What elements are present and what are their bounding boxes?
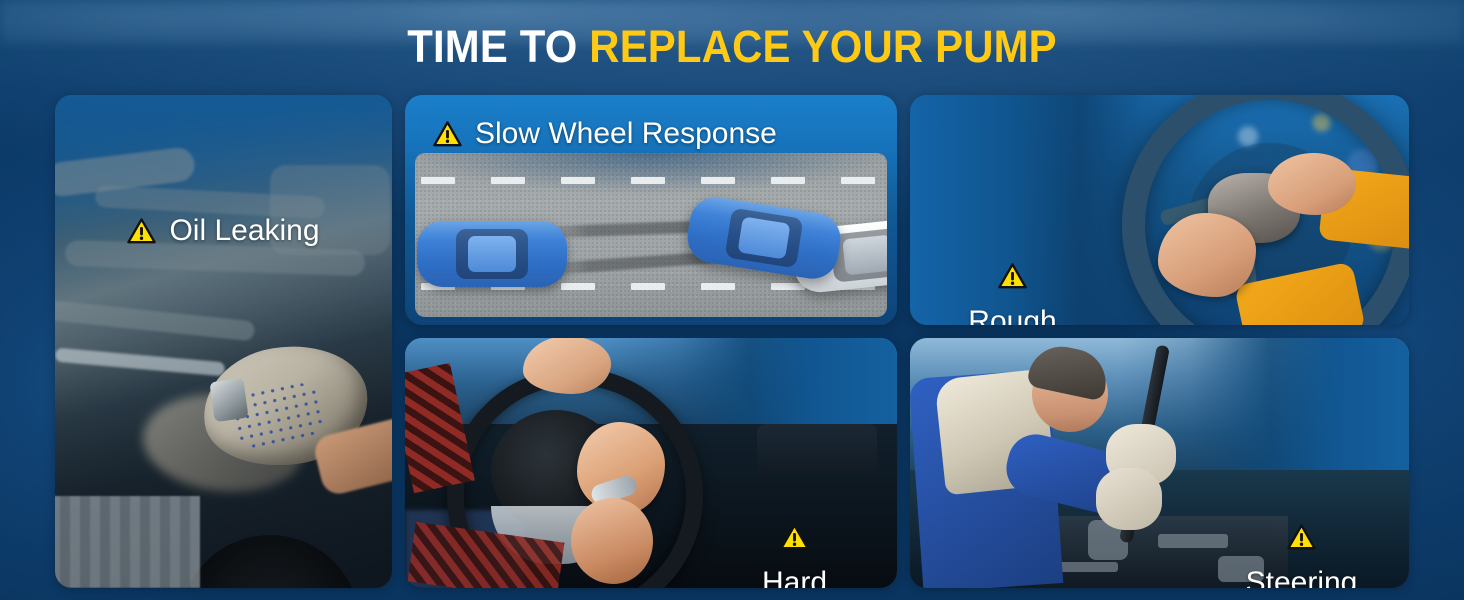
card-steering-noise[interactable]: Steering Noise: [910, 338, 1409, 588]
card-label-line1: Steering: [1194, 565, 1409, 588]
card-label-oil-leaking: Oil Leaking: [55, 213, 392, 249]
road-illustration: [415, 153, 887, 317]
lane-dash: [491, 177, 525, 184]
card-label-line1: Rough: [910, 304, 1115, 325]
card-hard-steering[interactable]: Hard Steering: [405, 338, 897, 588]
card-label-line1: Hard: [692, 565, 897, 588]
lane-dash: [631, 283, 665, 290]
card-label-steering-noise: Steering Noise: [1194, 524, 1409, 588]
driver-hand-lower: [571, 498, 653, 584]
lane-dash: [771, 283, 805, 290]
warning-triangle-icon: [780, 524, 809, 550]
lane-dash: [631, 177, 665, 184]
lane-dash: [771, 177, 805, 184]
promo-banner: TIME TO REPLACE YOUR PUMP: [0, 0, 1464, 600]
card-label-hard-steering: Hard Steering: [692, 524, 897, 588]
card-label-text: Oil Leaking: [169, 213, 319, 249]
lane-dash: [841, 177, 875, 184]
mechanic-glove-lower: [1096, 468, 1162, 530]
card-slow-wheel-response[interactable]: Slow Wheel Response: [405, 95, 897, 325]
oil-leaking-photo: [55, 95, 392, 588]
title-highlight-part: REPLACE YOUR PUMP: [589, 21, 1056, 72]
lane-dash: [421, 177, 455, 184]
warning-triangle-icon: [127, 218, 156, 244]
warning-triangle-icon: [998, 263, 1027, 289]
dashboard-vent: [757, 424, 877, 476]
lane-dash: [701, 177, 735, 184]
warning-triangle-icon: [1287, 524, 1316, 550]
shop-floor: [55, 496, 200, 588]
driver-hand-upper: [523, 338, 611, 394]
title-white-part: TIME TO: [407, 21, 577, 72]
driver-hand-right: [1268, 153, 1356, 215]
lane-dash: [561, 177, 595, 184]
page-title: TIME TO REPLACE YOUR PUMP: [51, 22, 1413, 72]
driver-hand-left: [1158, 213, 1256, 297]
card-label-rough-steering: Rough Steering: [910, 263, 1115, 325]
lane-dash: [561, 283, 595, 290]
drain-plug: [209, 378, 248, 422]
card-rough-steering[interactable]: Rough Steering: [910, 95, 1409, 325]
warning-triangle-icon: [433, 121, 462, 147]
card-label-slow-wheel-response: Slow Wheel Response: [433, 116, 777, 152]
card-oil-leaking[interactable]: Oil Leaking: [55, 95, 392, 588]
card-label-text: Slow Wheel Response: [475, 116, 777, 152]
car-leading-blue: [417, 221, 567, 287]
lane-dash: [701, 283, 735, 290]
